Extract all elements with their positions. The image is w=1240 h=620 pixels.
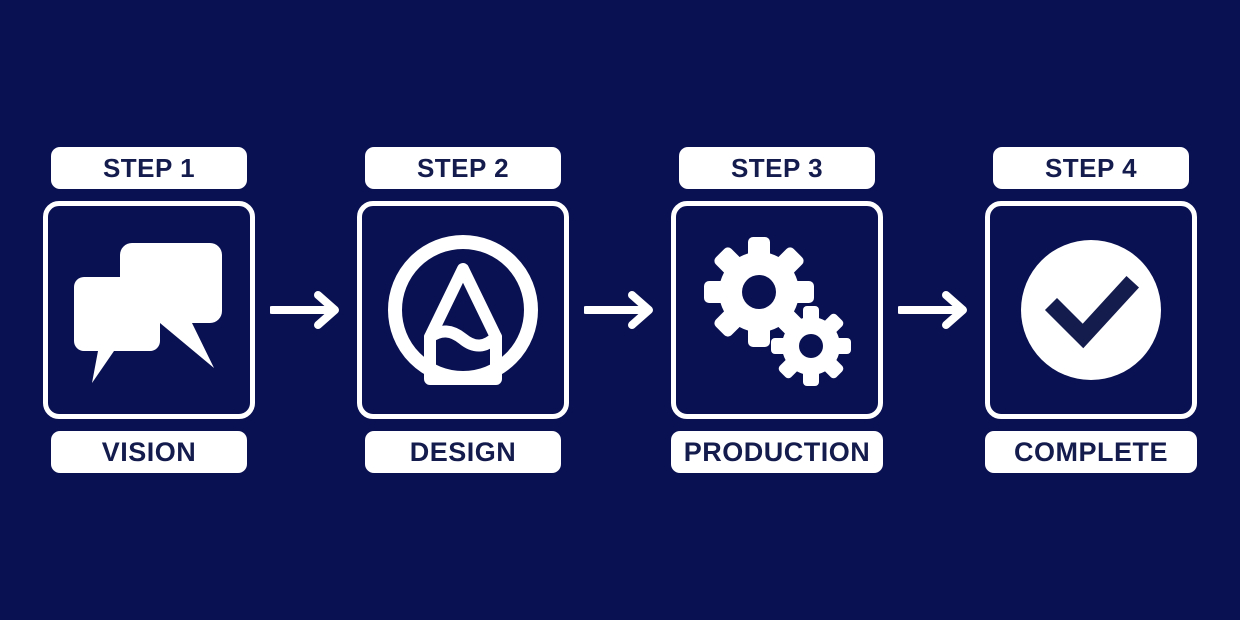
step-icon-box-1 — [43, 201, 255, 419]
step-number-pill-4: STEP 4 — [993, 147, 1189, 189]
step-card-4[interactable]: STEP 4 COMPLETE — [985, 147, 1197, 473]
step-number-pill-3: STEP 3 — [679, 147, 875, 189]
connector-arrow-1 — [255, 290, 357, 330]
pencil-in-circle-icon — [384, 231, 542, 389]
step-icon-box-2 — [357, 201, 569, 419]
check-circle-icon — [1019, 238, 1163, 382]
connector-arrow-2 — [569, 290, 671, 330]
step-number-pill-1: STEP 1 — [51, 147, 247, 189]
step-card-3[interactable]: STEP 3 — [671, 147, 883, 473]
speech-bubbles-icon — [74, 233, 224, 388]
step-name-pill-3: PRODUCTION — [671, 431, 883, 473]
step-name-pill-1: VISION — [51, 431, 247, 473]
connector-arrow-3 — [883, 290, 985, 330]
process-flow: STEP 1 VISION — [0, 0, 1240, 620]
arrow-right-icon — [270, 290, 342, 330]
infographic-canvas: STEP 1 VISION — [0, 0, 1240, 620]
step-number-pill-2: STEP 2 — [365, 147, 561, 189]
arrow-right-icon — [898, 290, 970, 330]
step-icon-box-4 — [985, 201, 1197, 419]
step-name-pill-2: DESIGN — [365, 431, 561, 473]
step-card-1[interactable]: STEP 1 VISION — [43, 147, 255, 473]
gears-icon — [697, 230, 857, 390]
arrow-right-icon — [584, 290, 656, 330]
step-name-pill-4: COMPLETE — [985, 431, 1197, 473]
step-icon-box-3 — [671, 201, 883, 419]
step-card-2[interactable]: STEP 2 DESIGN — [357, 147, 569, 473]
